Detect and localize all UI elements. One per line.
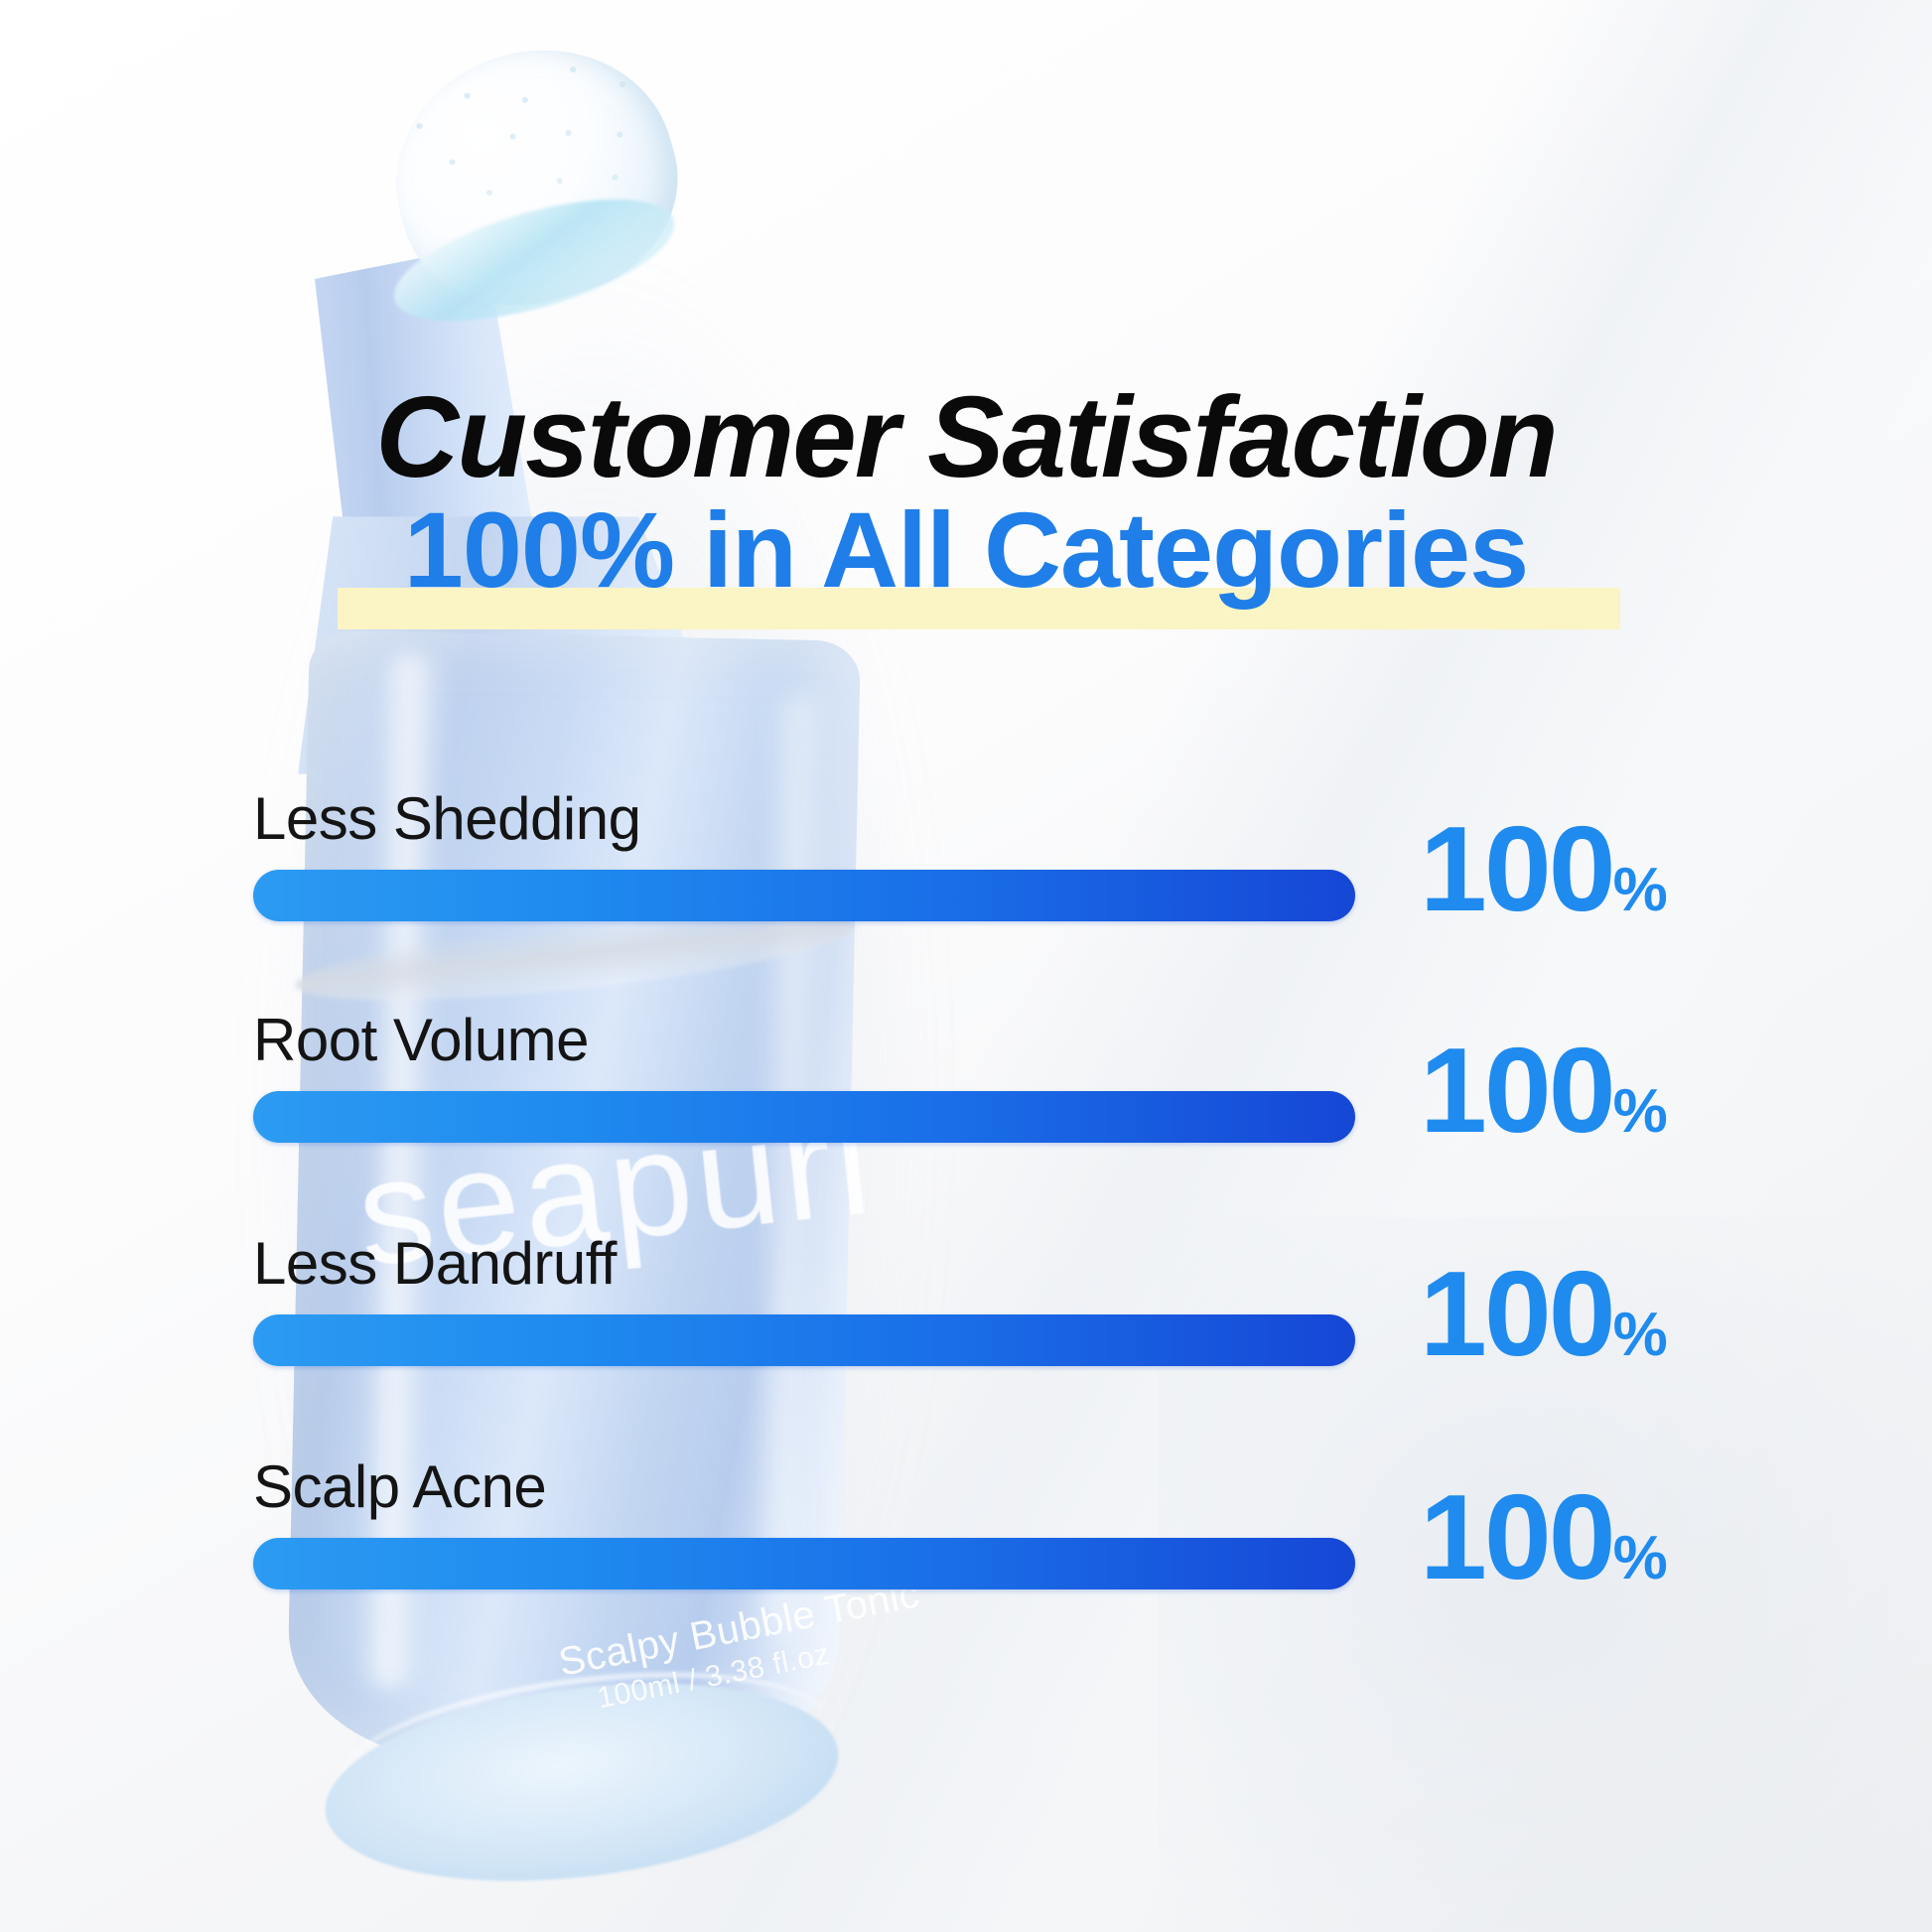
stat-value: 100% [1420, 1476, 1667, 1597]
stat-value-unit: % [1613, 1524, 1667, 1592]
stat-value-unit: % [1613, 856, 1667, 924]
stat-value-unit: % [1613, 1301, 1667, 1369]
progress-bar-fill [253, 1314, 1355, 1366]
stat-value: 100% [1420, 808, 1667, 929]
stat-value: 100% [1420, 1030, 1667, 1151]
stat-value-unit: % [1613, 1077, 1667, 1146]
stat-label: Scalp Acne [253, 1452, 546, 1521]
progress-bar-track [253, 1538, 1355, 1589]
progress-bar-track [253, 870, 1355, 921]
infographic-canvas: seapuri Scalpy Bubble Tonic 100ml / 3.38… [0, 0, 1932, 1932]
stat-value-number: 100 [1420, 1023, 1613, 1158]
stat-value-number: 100 [1420, 801, 1613, 936]
stat-value-number: 100 [1420, 1469, 1613, 1604]
progress-bar-fill [253, 870, 1355, 921]
stat-value: 100% [1420, 1253, 1667, 1374]
stat-label: Less Shedding [253, 784, 640, 853]
progress-bar-fill [253, 1538, 1355, 1589]
satisfaction-stats-list: Less Shedding 100% Root Volume 100% Less… [0, 0, 1932, 1932]
progress-bar-fill [253, 1091, 1355, 1143]
stat-value-number: 100 [1420, 1246, 1613, 1381]
stat-label: Less Dandruff [253, 1229, 617, 1298]
stat-label: Root Volume [253, 1006, 589, 1074]
progress-bar-track [253, 1091, 1355, 1143]
progress-bar-track [253, 1314, 1355, 1366]
